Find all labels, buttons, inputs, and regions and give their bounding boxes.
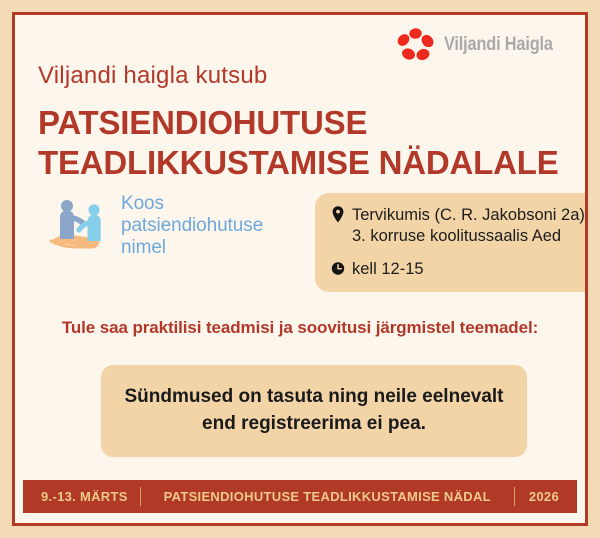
campaign-logo: Koos patsiendiohutuse nimel [49, 193, 263, 259]
hospital-logo: Viljandi Haigla [396, 28, 571, 62]
kicker-text: Viljandi haigla kutsub [38, 62, 267, 90]
footer-dates: 9.-13. MÄRTS [23, 489, 140, 504]
two-figures-on-hand-icon [49, 193, 115, 259]
footer-bar: 9.-13. MÄRTS PATSIENDIOHUTUSE TEADLIKKUS… [23, 480, 577, 513]
page-title: PATSIENDIOHUTUSE TEADLIKKUSTAMISE NÄDALA… [38, 103, 588, 183]
event-time: kell 12-15 [331, 259, 588, 280]
campaign-logo-text: Koos patsiendiohutuse nimel [121, 193, 263, 259]
event-details-card: Tervikumis (C. R. Jakobsoni 2a) 3. korru… [315, 193, 588, 292]
clock-icon [331, 259, 345, 278]
hospital-logo-text: Viljandi Haigla [444, 34, 553, 56]
poster: Viljandi Haigla Viljandi haigla kutsub P… [0, 0, 600, 538]
lead-text: Tule saa praktilisi teadmisi ja soovitus… [15, 318, 585, 338]
event-location-line-2: 3. korruse koolitussaalis Aed [352, 226, 585, 247]
footer-campaign-title: PATSIENDIOHUTUSE TEADLIKKUSTAMISE NÄDAL [141, 489, 514, 504]
notice-line-1: Sündmused on tasuta ning neile eelnevalt [121, 383, 507, 410]
event-time-line-1: kell 12-15 [352, 259, 424, 280]
headline-line-1: PATSIENDIOHUTUSE [38, 103, 588, 143]
notice-box: Sündmused on tasuta ning neile eelnevalt… [101, 365, 527, 457]
middle-row: Koos patsiendiohutuse nimel Tervikumis (… [15, 185, 585, 297]
flower-petals-icon [396, 28, 436, 62]
event-time-text: kell 12-15 [352, 259, 424, 280]
location-pin-icon [331, 205, 345, 224]
headline-line-2: TEADLIKKUSTAMISE NÄDALALE [38, 143, 588, 183]
event-location-line-1: Tervikumis (C. R. Jakobsoni 2a) [352, 205, 585, 226]
campaign-name-line-3: nimel [121, 237, 263, 259]
event-location: Tervikumis (C. R. Jakobsoni 2a) 3. korru… [331, 205, 588, 247]
footer-year: 2026 [515, 489, 577, 504]
campaign-name-line-2: patsiendiohutuse [121, 215, 263, 237]
campaign-name-line-1: Koos [121, 193, 263, 215]
notice-line-2: end registreerima ei pea. [121, 410, 507, 437]
poster-frame: Viljandi Haigla Viljandi haigla kutsub P… [12, 12, 588, 526]
event-location-text: Tervikumis (C. R. Jakobsoni 2a) 3. korru… [352, 205, 585, 247]
